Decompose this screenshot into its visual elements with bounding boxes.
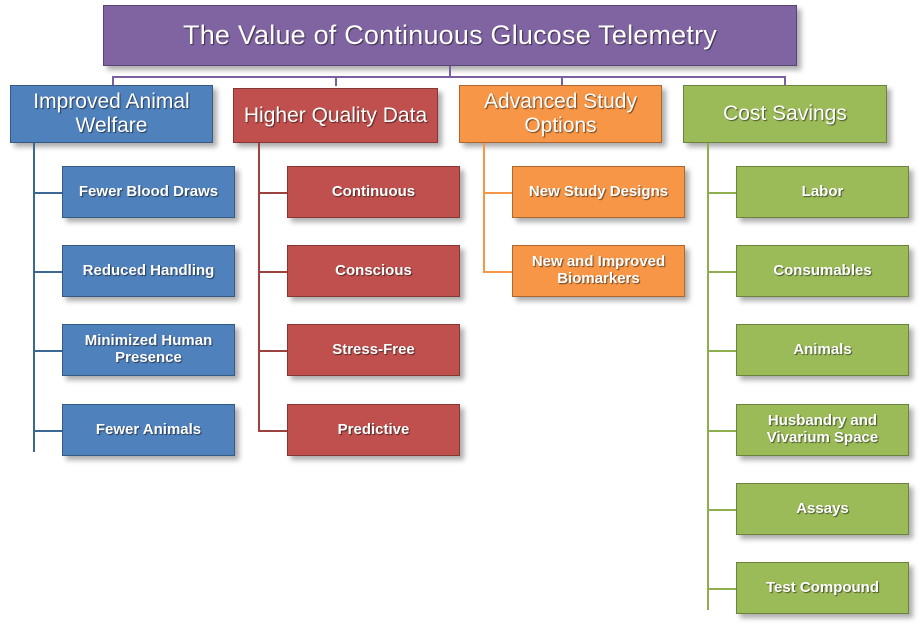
branch-header-label: Improved Animal Welfare — [17, 90, 206, 137]
branch1-child-1-label: Fewer Blood Draws — [79, 184, 218, 201]
connector-branch1-spur-4 — [33, 430, 62, 432]
branch4-child-3-label: Animals — [793, 342, 851, 359]
branch4-child-4-label: Husbandry and Vivarium Space — [743, 413, 902, 447]
connector-branch1-spur-3 — [33, 350, 62, 352]
branch4-child-5[interactable]: Assays — [736, 483, 909, 535]
branch4-child-6-label: Test Compound — [766, 580, 879, 597]
branch2-child-2[interactable]: Conscious — [287, 245, 460, 297]
diagram-title-node: The Value of Continuous Glucose Telemetr… — [103, 5, 797, 66]
diagram-title-label: The Value of Continuous Glucose Telemetr… — [183, 20, 717, 50]
branch1-child-2-label: Reduced Handling — [83, 263, 215, 280]
connector-branch2-spur-3 — [258, 350, 287, 352]
branch2-child-4-label: Predictive — [338, 422, 410, 439]
branch1-child-4[interactable]: Fewer Animals — [62, 404, 235, 456]
branch4-child-6[interactable]: Test Compound — [736, 562, 909, 614]
branch4-child-5-label: Assays — [796, 501, 849, 518]
branch4-child-1[interactable]: Labor — [736, 166, 909, 218]
branch4-child-3[interactable]: Animals — [736, 324, 909, 376]
branch-header-improved-animal-welfare[interactable]: Improved Animal Welfare — [10, 85, 213, 143]
connector-branch2-spur-1 — [258, 192, 287, 194]
connector-branch2-trunk — [258, 143, 260, 432]
branch3-child-1[interactable]: New Study Designs — [512, 166, 685, 218]
connector-branch4-spur-5 — [707, 509, 736, 511]
branch2-child-3-label: Stress-Free — [332, 342, 415, 359]
connector-title-to-branch-2 — [335, 76, 337, 86]
connector-branch2-spur-4 — [258, 430, 287, 432]
branch3-child-2-label: New and Improved Biomarkers — [519, 254, 678, 288]
connector-branch4-spur-3 — [707, 350, 736, 352]
branch1-child-1[interactable]: Fewer Blood Draws — [62, 166, 235, 218]
branch1-child-4-label: Fewer Animals — [96, 422, 201, 439]
branch2-child-3[interactable]: Stress-Free — [287, 324, 460, 376]
branch-header-label: Cost Savings — [723, 102, 847, 126]
branch-header-advanced-study-options[interactable]: Advanced Study Options — [459, 85, 662, 143]
branch4-child-1-label: Labor — [802, 184, 844, 201]
branch2-child-1-label: Continuous — [332, 184, 415, 201]
branch3-child-1-label: New Study Designs — [529, 184, 668, 201]
branch-header-label: Higher Quality Data — [244, 104, 427, 128]
branch-header-label: Advanced Study Options — [466, 90, 655, 137]
connector-branch4-trunk — [707, 143, 709, 610]
connector-branch4-spur-1 — [707, 192, 736, 194]
branch-header-higher-quality-data[interactable]: Higher Quality Data — [233, 88, 438, 143]
branch4-child-2-label: Consumables — [773, 263, 871, 280]
branch3-child-2[interactable]: New and Improved Biomarkers — [512, 245, 685, 297]
connector-branch1-spur-2 — [33, 271, 62, 273]
connector-branch3-spur-1 — [483, 192, 512, 194]
connector-branch1-trunk — [33, 143, 35, 452]
branch2-child-4[interactable]: Predictive — [287, 404, 460, 456]
branch2-child-2-label: Conscious — [335, 263, 412, 280]
connector-branch1-spur-1 — [33, 192, 62, 194]
branch-header-cost-savings[interactable]: Cost Savings — [683, 85, 887, 143]
connector-branch3-trunk — [483, 143, 485, 273]
connector-branch4-spur-6 — [707, 588, 736, 590]
connector-branch4-spur-4 — [707, 430, 736, 432]
branch4-child-4[interactable]: Husbandry and Vivarium Space — [736, 404, 909, 456]
branch4-child-2[interactable]: Consumables — [736, 245, 909, 297]
branch1-child-3[interactable]: Minimized Human Presence — [62, 324, 235, 376]
connector-title-bus — [112, 76, 786, 78]
branch1-child-2[interactable]: Reduced Handling — [62, 245, 235, 297]
branch1-child-3-label: Minimized Human Presence — [69, 333, 228, 367]
branch2-child-1[interactable]: Continuous — [287, 166, 460, 218]
connector-branch3-spur-2 — [483, 271, 512, 273]
connector-branch4-spur-2 — [707, 271, 736, 273]
diagram-canvas: The Value of Continuous Glucose Telemetr… — [0, 0, 921, 635]
connector-branch2-spur-2 — [258, 271, 287, 273]
